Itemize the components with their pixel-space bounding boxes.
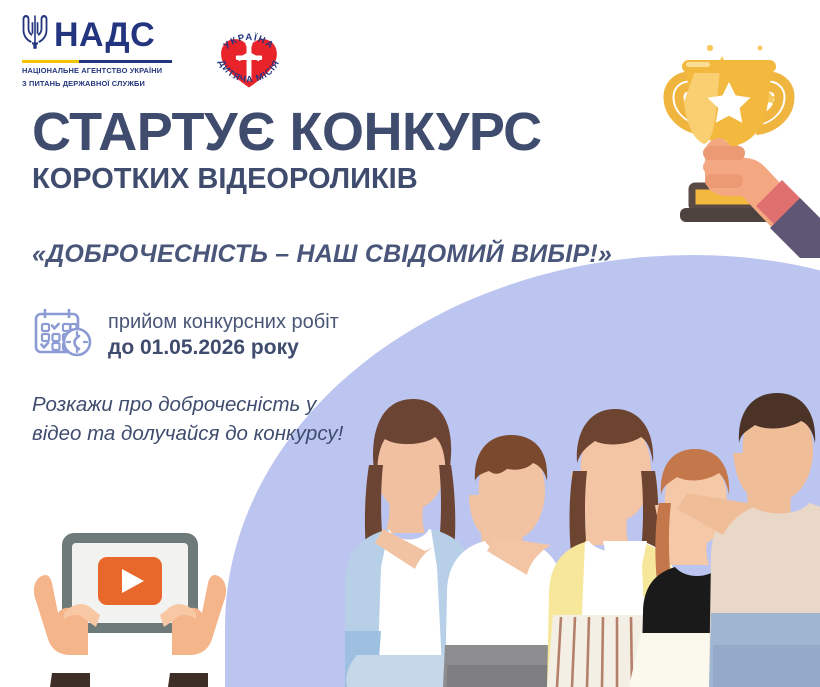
headline-secondary: КОРОТКИХ ВІДЕОРОЛИКІВ xyxy=(32,164,542,194)
play-button-icon xyxy=(98,557,162,605)
nads-subtitle-line1: НАЦІОНАЛЬНЕ АГЕНТСТВО УКРАЇНИ xyxy=(22,66,172,76)
headline-primary: СТАРТУЄ КОНКУРС xyxy=(32,104,542,160)
nads-logo: НАДС НАЦІОНАЛЬНЕ АГЕНТСТВО УКРАЇНИ З ПИТ… xyxy=(22,14,172,89)
headline-block: СТАРТУЄ КОНКУРС КОРОТКИХ ВІДЕОРОЛИКІВ xyxy=(32,104,542,195)
nads-logo-top: НАДС xyxy=(22,14,172,55)
calendar-clock-icon xyxy=(32,306,94,365)
mission-arc-bottom-label: ДИТЯЧА МІСІЯ xyxy=(290,14,291,15)
nads-acronym: НАДС xyxy=(54,18,155,52)
logo-row: НАДС НАЦІОНАЛЬНЕ АГЕНТСТВО УКРАЇНИ З ПИТ… xyxy=(22,14,290,102)
deadline-text-group: прийом конкурсних робіт до 01.05.2026 ро… xyxy=(108,310,339,361)
deadline-label: прийом конкурсних робіт xyxy=(108,310,339,335)
deadline-value: до 01.05.2026 року xyxy=(108,335,339,361)
nads-divider-rule xyxy=(22,60,172,63)
deadline-row: прийом конкурсних робіт до 01.05.2026 ро… xyxy=(32,306,339,365)
teenagers-group-photo xyxy=(345,345,820,687)
tablet-video-illustration xyxy=(30,525,230,687)
nads-subtitle-line2: З ПИТАНЬ ДЕРЖАВНОЇ СЛУЖБИ xyxy=(22,79,172,89)
mission-arc-top-label: УКРАЇНА xyxy=(290,14,291,15)
trophy-illustration xyxy=(634,8,820,258)
dytyacha-misiya-logo: УКРАЇНА ДИТЯЧА МІСІЯ УКРАЇНА ДИТЯЧА МІСІ… xyxy=(208,14,290,102)
poster-canvas: НАДС НАЦІОНАЛЬНЕ АГЕНТСТВО УКРАЇНИ З ПИТ… xyxy=(0,0,820,687)
call-to-action-text: Розкажи про доброчесність у відео та дол… xyxy=(32,390,352,448)
ukraine-trident-icon xyxy=(22,14,48,55)
contest-slogan: «ДОБРОЧЕСНІСТЬ – НАШ СВІДОМИЙ ВИБІР!» xyxy=(32,240,612,269)
